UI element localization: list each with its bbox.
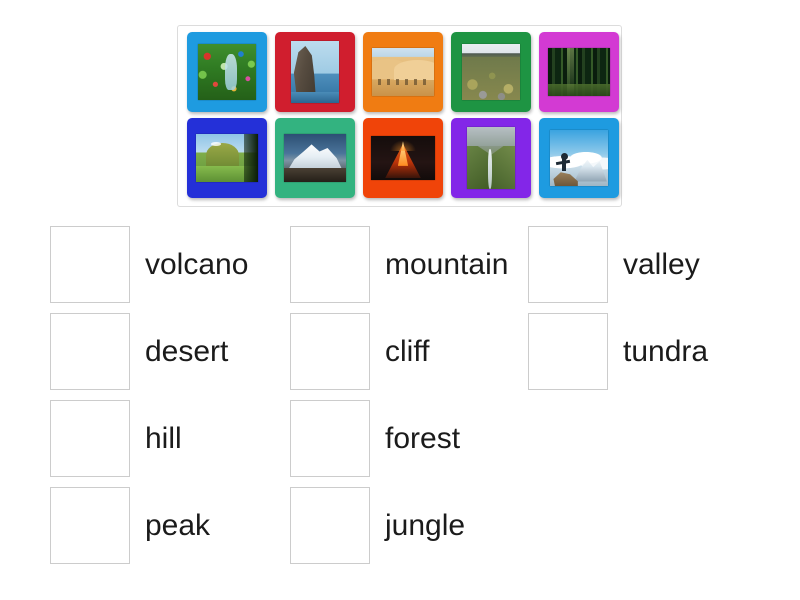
dropzone-peak[interactable] (50, 487, 130, 564)
valley-tile[interactable] (451, 118, 531, 198)
answer-pair: jungle (290, 482, 528, 569)
hill-scene (196, 134, 258, 182)
answer-pair: volcano (50, 221, 290, 308)
answer-word-label: valley (623, 250, 700, 280)
answer-row: desertclifftundra (50, 308, 760, 395)
answer-pair: peak (50, 482, 290, 569)
scene-layer (553, 169, 577, 186)
cliff-tile[interactable] (275, 32, 355, 112)
volcano-scene (371, 136, 435, 180)
scene-layer (567, 48, 574, 96)
desert-scene (372, 48, 434, 96)
answer-row: hillforest (50, 395, 760, 482)
tile-photo (372, 48, 434, 96)
answer-word-label: mountain (385, 250, 508, 280)
tile-photo (284, 134, 346, 182)
answer-word-label: cliff (385, 337, 429, 367)
answer-pair: mountain (290, 221, 528, 308)
answer-word-label: desert (145, 337, 228, 367)
tile-photo (371, 136, 435, 180)
scene-layer (244, 134, 258, 182)
dropzone-valley[interactable] (528, 226, 608, 303)
answer-pair: desert (50, 308, 290, 395)
tile-photo (462, 44, 520, 100)
answer-word-label: peak (145, 511, 210, 541)
scene-layer (467, 127, 515, 146)
forest-scene (548, 48, 610, 96)
dropzone-jungle[interactable] (290, 487, 370, 564)
tile-photo (196, 134, 258, 182)
cliff-scene (291, 41, 339, 103)
answer-word-label: jungle (385, 511, 465, 541)
tile-photo (467, 127, 515, 189)
scene-layer (206, 143, 239, 168)
dropzone-volcano[interactable] (50, 226, 130, 303)
desert-tile[interactable] (363, 32, 443, 112)
scene-layer (284, 168, 346, 182)
valley-scene (467, 127, 515, 189)
answer-pair: cliff (290, 308, 528, 395)
tile-photo (198, 44, 256, 100)
dropzone-mountain[interactable] (290, 226, 370, 303)
hill-tile[interactable] (187, 118, 267, 198)
dropzone-desert[interactable] (50, 313, 130, 390)
dropzone-forest[interactable] (290, 400, 370, 477)
scene-layer (294, 46, 319, 98)
answer-word-label: hill (145, 424, 182, 454)
answer-word-label: forest (385, 424, 460, 454)
tile-row (183, 30, 616, 116)
tile-photo (550, 130, 608, 186)
snowmt-scene (284, 134, 346, 182)
answer-pair: forest (290, 395, 528, 482)
mountain-tile[interactable] (275, 118, 355, 198)
jungle-scene (198, 44, 256, 100)
answer-word-label: tundra (623, 337, 708, 367)
scene-layer (462, 57, 520, 100)
answer-row: peakjungle (50, 482, 760, 569)
forest-tile[interactable] (539, 32, 619, 112)
scene-layer (394, 60, 434, 79)
answer-pair: valley (528, 221, 758, 308)
answer-pair: tundra (528, 308, 758, 395)
tile-row (183, 116, 616, 202)
dropzone-cliff[interactable] (290, 313, 370, 390)
dropzone-tundra[interactable] (528, 313, 608, 390)
peak-tile[interactable] (539, 118, 619, 198)
image-tile-tray (177, 25, 622, 207)
scene-layer (390, 140, 416, 151)
answer-row: volcanomountainvalley (50, 221, 760, 308)
summit-scene (550, 130, 608, 186)
scene-layer (211, 142, 221, 146)
scene-layer (548, 84, 610, 96)
answer-word-label: volcano (145, 250, 248, 280)
tile-photo (548, 48, 610, 96)
answer-pair: hill (50, 395, 290, 482)
tundra-tile[interactable] (451, 32, 531, 112)
jungle-tile[interactable] (187, 32, 267, 112)
scene-layer (291, 92, 339, 103)
scene-layer (225, 54, 238, 90)
tile-photo (291, 41, 339, 103)
tundra-scene (462, 44, 520, 100)
scene-layer (378, 79, 428, 86)
answer-grid: volcanomountainvalleydesertclifftundrahi… (50, 221, 760, 569)
dropzone-hill[interactable] (50, 400, 130, 477)
volcano-tile[interactable] (363, 118, 443, 198)
